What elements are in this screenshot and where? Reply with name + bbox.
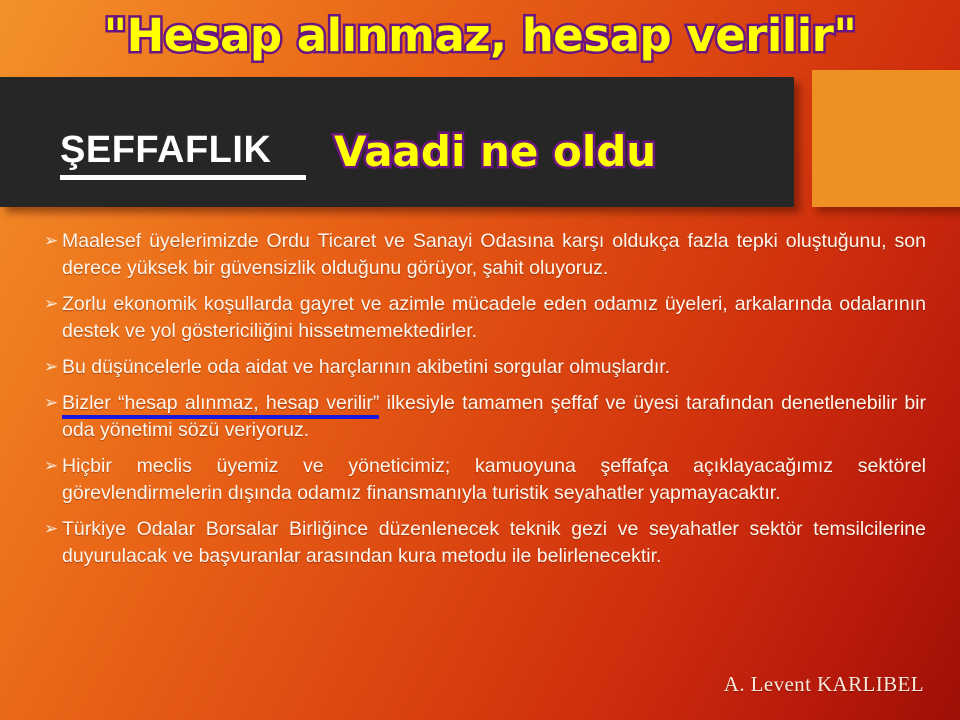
list-item: ➢ Bu düşüncelerle oda aidat ve harçların… [36, 354, 926, 381]
transparency-label-text: ŞEFFAFLIK [60, 129, 271, 171]
bullet-arrow-icon: ➢ [36, 390, 62, 417]
author-signature: A. Levent KARLIBEL [724, 672, 924, 696]
text-run: Zorlu ekonomik koşullarda gayret ve azim… [62, 293, 926, 342]
list-item: ➢ Zorlu ekonomik koşullarda gayret ve az… [36, 291, 926, 345]
orange-accent-block [812, 70, 960, 207]
list-item-text: Zorlu ekonomik koşullarda gayret ve azim… [62, 291, 926, 345]
transparency-label: ŞEFFAFLIK [60, 128, 306, 180]
text-run: Türkiye Odalar Borsalar Birliğince düzen… [62, 518, 926, 567]
bullet-arrow-icon: ➢ [36, 354, 62, 381]
bullet-arrow-icon: ➢ [36, 291, 62, 318]
list-item: ➢ Hiçbir meclis üyemiz ve yöneticimiz; k… [36, 453, 926, 507]
page-title: "Hesap alınmaz, hesap verilir" [0, 8, 960, 64]
list-item: ➢ Bizler “hesap alınmaz, hesap verilir” … [36, 390, 926, 444]
list-item-text: Bizler “hesap alınmaz, hesap verilir” il… [62, 390, 926, 444]
bullet-list: ➢ Maalesef üyelerimizde Ordu Ticaret ve … [36, 228, 926, 579]
list-item: ➢ Türkiye Odalar Borsalar Birliğince düz… [36, 516, 926, 570]
bullet-arrow-icon: ➢ [36, 228, 62, 255]
list-item-text: Maalesef üyelerimizde Ordu Ticaret ve Sa… [62, 228, 926, 282]
list-item: ➢ Maalesef üyelerimizde Ordu Ticaret ve … [36, 228, 926, 282]
transparency-underline [60, 175, 306, 180]
highlighted-phrase: Bizler “hesap alınmaz, hesap verilir” [62, 392, 379, 419]
subtitle: Vaadi ne oldu [334, 126, 656, 178]
text-run: Maalesef üyelerimizde Ordu Ticaret ve Sa… [62, 230, 926, 279]
text-run: Bu düşüncelerle oda aidat ve harçlarının… [62, 356, 670, 378]
list-item-text: Hiçbir meclis üyemiz ve yöneticimiz; kam… [62, 453, 926, 507]
bullet-arrow-icon: ➢ [36, 516, 62, 543]
text-run: Hiçbir meclis üyemiz ve yöneticimiz; kam… [62, 455, 926, 504]
list-item-text: Türkiye Odalar Borsalar Birliğince düzen… [62, 516, 926, 570]
presentation-slide: "Hesap alınmaz, hesap verilir" ŞEFFAFLIK… [0, 0, 960, 720]
list-item-text: Bu düşüncelerle oda aidat ve harçlarının… [62, 354, 926, 381]
bullet-arrow-icon: ➢ [36, 453, 62, 480]
